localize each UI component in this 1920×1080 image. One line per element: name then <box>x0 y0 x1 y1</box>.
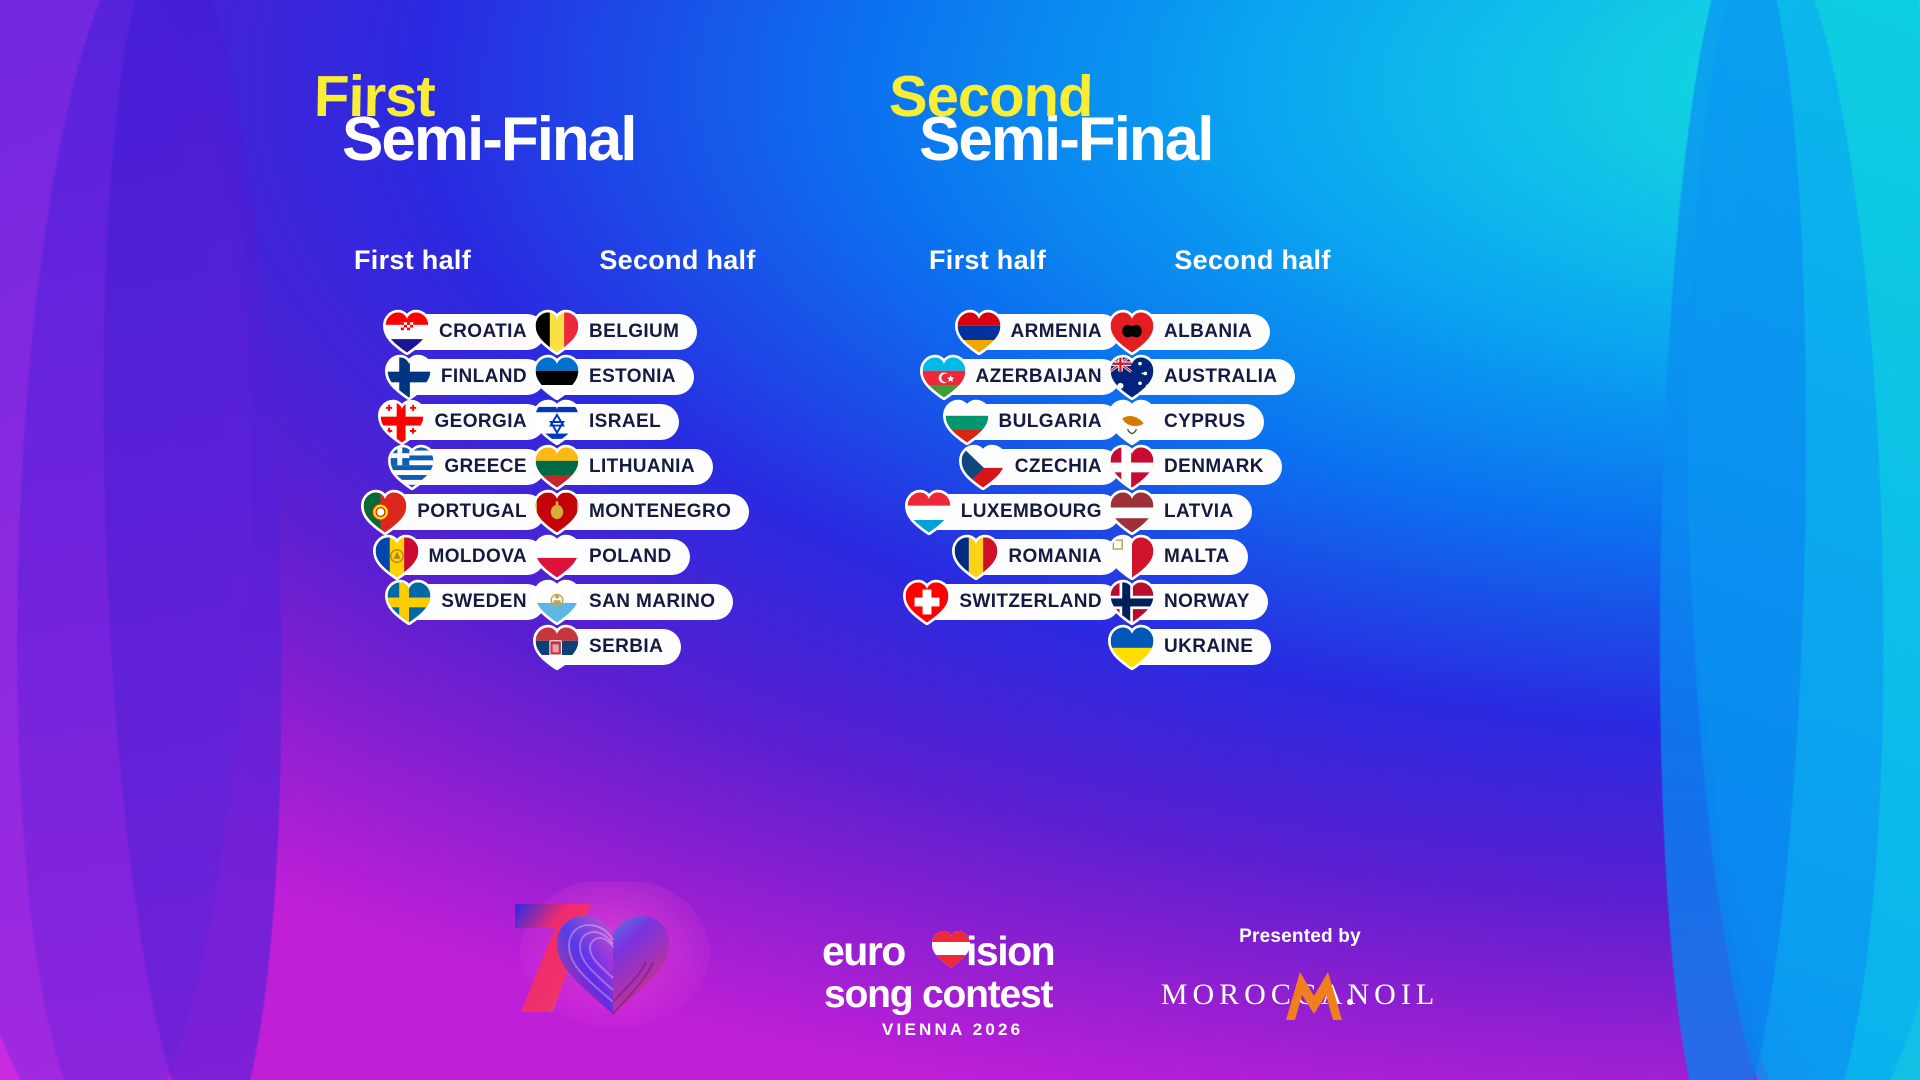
flag-heart-icon <box>958 443 1008 491</box>
flag-heart-icon <box>377 398 427 446</box>
country-name: ROMANIA <box>1008 546 1102 568</box>
country-pill[interactable]: ARMENIA <box>967 314 1120 350</box>
semifinal-2-second-half: Second half ALBANIA AUSTRALIA CYPRUS DEN… <box>1120 245 1385 665</box>
flag-heart-icon <box>954 308 1004 356</box>
flag-heart-icon <box>1107 533 1157 581</box>
country-name: MONTENEGRO <box>589 501 731 523</box>
flag-heart-icon <box>384 353 434 401</box>
country-name: LITHUANIA <box>589 456 695 478</box>
footer: euro ision song contest VIENNA 2026 <box>0 886 1920 1066</box>
country-name: AZERBAIJAN <box>976 366 1102 388</box>
country-pill[interactable]: BELGIUM <box>545 314 697 350</box>
country-name: SWITZERLAND <box>959 591 1102 613</box>
country-list: ARMENIA AZERBAIJAN BULGARIA CZECHIA LUXE… <box>855 314 1120 620</box>
country-pill[interactable]: ESTONIA <box>545 359 694 395</box>
country-name: CYPRUS <box>1164 411 1246 433</box>
flag-heart-icon <box>919 353 969 401</box>
country-pill[interactable]: FINLAND <box>397 359 545 395</box>
flag-heart-icon <box>532 533 582 581</box>
country-name: CZECHIA <box>1015 456 1102 478</box>
semifinal-1-second-half: Second half BELGIUM ESTONIA ISRAEL LITHU… <box>545 245 810 665</box>
flag-heart-icon <box>902 578 952 626</box>
country-pill[interactable]: NORWAY <box>1120 584 1268 620</box>
flag-heart-icon <box>532 398 582 446</box>
country-name: AUSTRALIA <box>1164 366 1277 388</box>
flag-heart-icon <box>1107 308 1157 356</box>
semifinal-2-ordinal: Second <box>889 70 1213 123</box>
sponsor-block: Presented by MOROCCANOIL <box>1140 926 1460 1026</box>
country-name: UKRAINE <box>1164 636 1253 658</box>
country-pill[interactable]: GEORGIA <box>390 404 545 440</box>
country-name: ALBANIA <box>1164 321 1252 343</box>
country-pill[interactable]: MOLDOVA <box>385 539 546 575</box>
flag-heart-icon <box>532 488 582 536</box>
country-pill[interactable]: AZERBAIJAN <box>932 359 1120 395</box>
country-name: LATVIA <box>1164 501 1234 523</box>
country-pill[interactable]: CYPRUS <box>1120 404 1264 440</box>
country-name: FINLAND <box>441 366 527 388</box>
country-pill[interactable]: MALTA <box>1120 539 1248 575</box>
flag-heart-icon <box>382 308 432 356</box>
semifinal-1-first-half: First half CROATIA FINLAND GEORGIA GREEC… <box>280 245 545 665</box>
flag-heart-icon <box>1107 353 1157 401</box>
semifinal-1-title: First Semi-Final <box>300 70 636 168</box>
semifinal-block-2: Second Semi-Final First half ARMENIA AZE… <box>885 70 1213 168</box>
flag-heart-icon <box>360 488 410 536</box>
flag-heart-icon <box>951 533 1001 581</box>
esc-logo-line2: ision <box>966 928 1054 974</box>
country-name: ESTONIA <box>589 366 676 388</box>
country-pill[interactable]: DENMARK <box>1120 449 1282 485</box>
country-pill[interactable]: ROMANIA <box>964 539 1120 575</box>
country-name: CROATIA <box>439 321 527 343</box>
country-name: GREECE <box>444 456 527 478</box>
country-name: SWEDEN <box>441 591 527 613</box>
flag-heart-icon <box>942 398 992 446</box>
flag-heart-icon <box>1107 578 1157 626</box>
flag-heart-icon <box>532 623 582 671</box>
country-name: GEORGIA <box>434 411 527 433</box>
country-name: DENMARK <box>1164 456 1264 478</box>
country-name: SERBIA <box>589 636 663 658</box>
flag-heart-icon <box>904 488 954 536</box>
flag-heart-icon <box>384 578 434 626</box>
half-title: First half <box>855 245 1120 276</box>
country-name: SAN MARINO <box>589 591 715 613</box>
half-title: First half <box>280 245 545 276</box>
country-pill[interactable]: SWITZERLAND <box>915 584 1120 620</box>
flag-heart-icon <box>1107 488 1157 536</box>
flag-heart-icon <box>532 308 582 356</box>
country-pill[interactable]: SAN MARINO <box>545 584 733 620</box>
country-list: ALBANIA AUSTRALIA CYPRUS DENMARK LATVIA … <box>1120 314 1385 665</box>
semifinal-2-title: Second Semi-Final <box>885 70 1213 168</box>
eurovision-song-contest-logo: euro ision song contest VIENNA 2026 <box>820 919 1085 1044</box>
semifinal-1-ordinal: First <box>314 70 636 123</box>
country-pill[interactable]: BULGARIA <box>955 404 1120 440</box>
country-pill[interactable]: POLAND <box>545 539 690 575</box>
flag-heart-icon <box>532 353 582 401</box>
country-pill[interactable]: AUSTRALIA <box>1120 359 1295 395</box>
country-name: BULGARIA <box>999 411 1102 433</box>
country-name: POLAND <box>589 546 672 568</box>
esc-logo-city-year: VIENNA 2026 <box>882 1020 1023 1039</box>
country-name: MOLDOVA <box>429 546 528 568</box>
anniversary-70-logo <box>495 882 710 1032</box>
country-name: LUXEMBOURG <box>961 501 1102 523</box>
country-pill[interactable]: CROATIA <box>395 314 545 350</box>
country-pill[interactable]: LATVIA <box>1120 494 1252 530</box>
flag-heart-icon <box>1107 443 1157 491</box>
country-name: MALTA <box>1164 546 1230 568</box>
semifinal-2-first-half: First half ARMENIA AZERBAIJAN BULGARIA C… <box>855 245 1120 665</box>
country-list: BELGIUM ESTONIA ISRAEL LITHUANIA MONTENE… <box>545 314 810 665</box>
flag-heart-icon <box>387 443 437 491</box>
country-pill[interactable]: CZECHIA <box>971 449 1120 485</box>
half-title: Second half <box>545 245 810 276</box>
esc-logo-line3: song contest <box>824 973 1053 1016</box>
semifinal-block-1: First Semi-Final First half CROATIA FINL… <box>300 70 636 168</box>
flag-heart-icon <box>532 443 582 491</box>
country-pill[interactable]: SWEDEN <box>397 584 545 620</box>
country-pill[interactable]: ALBANIA <box>1120 314 1270 350</box>
flag-heart-icon <box>532 578 582 626</box>
country-pill[interactable]: SERBIA <box>545 629 681 665</box>
moroccanoil-logo: MOROCCANOIL <box>1140 962 1460 1026</box>
flag-heart-icon <box>1107 623 1157 671</box>
country-pill[interactable]: LUXEMBOURG <box>917 494 1120 530</box>
country-pill[interactable]: UKRAINE <box>1120 629 1271 665</box>
country-pill[interactable]: ISRAEL <box>545 404 679 440</box>
half-title: Second half <box>1120 245 1385 276</box>
flag-heart-icon <box>372 533 422 581</box>
country-pill[interactable]: PORTUGAL <box>373 494 545 530</box>
country-name: PORTUGAL <box>417 501 527 523</box>
country-pill[interactable]: LITHUANIA <box>545 449 713 485</box>
presented-by-label: Presented by <box>1140 926 1460 948</box>
country-name: ISRAEL <box>589 411 661 433</box>
flag-heart-icon <box>1107 398 1157 446</box>
country-list: CROATIA FINLAND GEORGIA GREECE PORTUGAL … <box>280 314 545 620</box>
country-pill[interactable]: GREECE <box>400 449 545 485</box>
country-pill[interactable]: MONTENEGRO <box>545 494 749 530</box>
esc-logo-line1: euro <box>822 928 905 974</box>
country-name: NORWAY <box>1164 591 1250 613</box>
country-name: ARMENIA <box>1011 321 1102 343</box>
country-name: BELGIUM <box>589 321 679 343</box>
